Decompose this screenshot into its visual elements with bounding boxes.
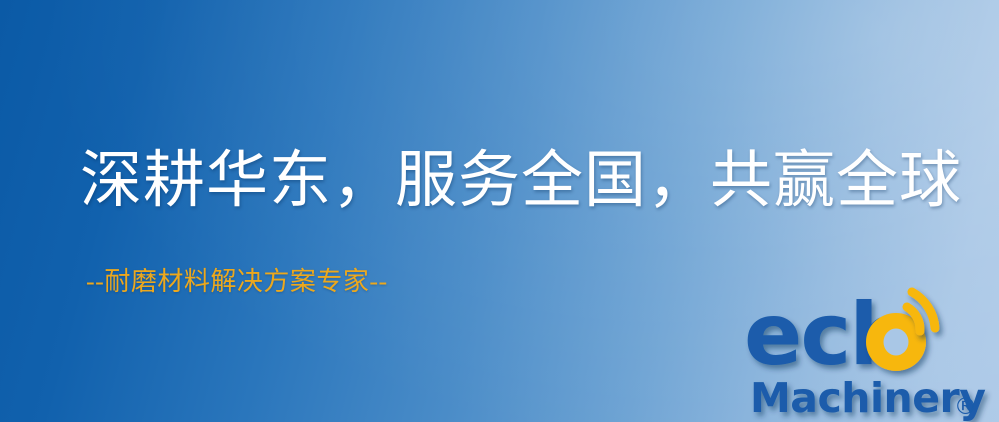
hero-banner: 深耕华东，服务全国，共赢全球 --耐磨材料解决方案专家-- ech (0, 0, 999, 422)
echo-machinery-logo: ech Machinery ® (744, 290, 999, 422)
registered-trademark-icon: ® (954, 394, 977, 420)
banner-subtitle: --耐磨材料解决方案专家-- (86, 266, 388, 298)
logo-tagline-machinery: Machinery ® (750, 374, 985, 422)
banner-headline: 深耕华东，服务全国，共赢全球 (80, 146, 962, 216)
svg-text:Machinery: Machinery (750, 374, 985, 422)
